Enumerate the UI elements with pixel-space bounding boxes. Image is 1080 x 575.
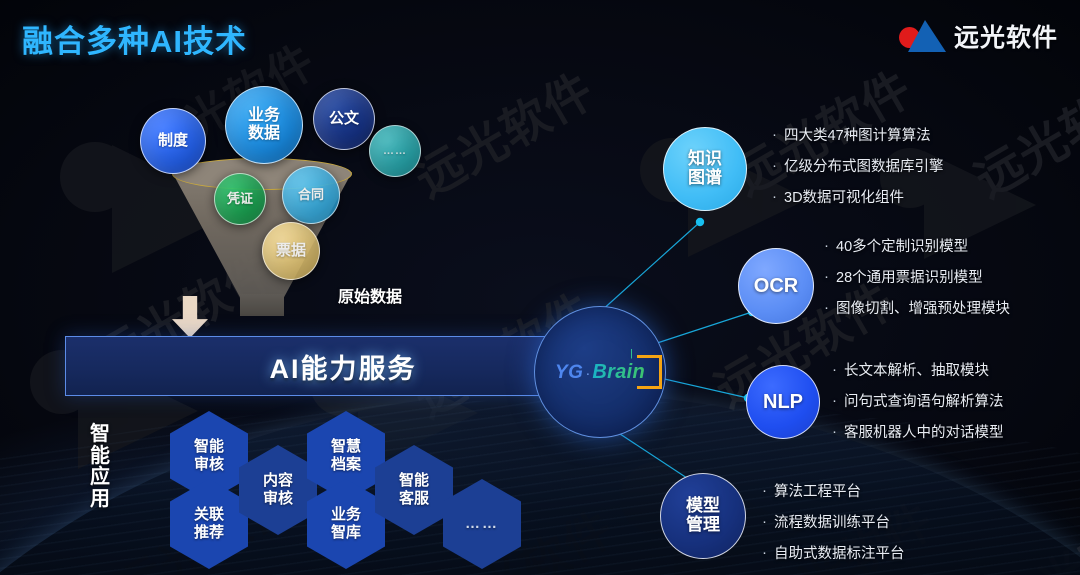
bullet-text: 亿级分布式图数据库引擎	[784, 158, 944, 176]
bullet-dot-icon: ·	[772, 189, 784, 206]
bullet-item: ·亿级分布式图数据库引擎	[772, 158, 944, 176]
app-hex-related-recommend[interactable]: 关联 推荐	[170, 479, 248, 569]
bubble-label: 票据	[276, 243, 306, 260]
bullet-item: ·问句式查询语句解析算法	[832, 393, 1004, 411]
hex-label-line1: 关联	[194, 506, 224, 524]
source-bubble-gongwen[interactable]: 公文	[313, 88, 375, 150]
hex-label-line2: 智库	[331, 524, 361, 542]
bullet-dot-icon: ·	[772, 158, 784, 175]
hex-label-line2: 客服	[399, 490, 429, 508]
bullet-text: 问句式查询语句解析算法	[844, 393, 1004, 411]
hex-label-line1: 智慧	[331, 438, 361, 456]
capability-label-line2: 管理	[686, 516, 720, 535]
hex-label-line1: 内容	[263, 472, 293, 490]
slide-canvas: 远光软件 远光软件 远光软件 远光软件 远光软件 远光软件 远光软件 远光软件 …	[0, 0, 1080, 575]
hex-label-line2: 档案	[331, 456, 361, 474]
bubble-label: 公文	[329, 111, 359, 128]
hex-label-line1: 业务	[331, 506, 361, 524]
bullet-dot-icon: ·	[832, 362, 844, 379]
capability-ocr[interactable]: OCR	[738, 248, 814, 324]
brand-separator: ·	[585, 365, 590, 382]
bullet-text: 长文本解析、抽取模块	[844, 362, 989, 380]
capability-label-line1: OCR	[754, 275, 798, 297]
ai-service-label: AI能力服务	[270, 347, 417, 386]
bullet-text: 算法工程平台	[774, 483, 861, 501]
source-bubble-zhidu[interactable]: 制度	[140, 108, 206, 174]
watermark: 远光软件	[960, 52, 1080, 211]
bullets-nlp: ·长文本解析、抽取模块 ·问句式查询语句解析算法 ·客服机器人中的对话模型	[832, 362, 1004, 455]
raw-data-label: 原始数据	[338, 283, 402, 307]
brand-prefix: YG	[555, 362, 583, 384]
company-logo: 远光软件	[899, 18, 1058, 54]
bullet-text: 四大类47种图计算算法	[784, 127, 931, 145]
yg-brain-logo: YG · Brain	[555, 361, 645, 384]
bullet-dot-icon: ·	[832, 424, 844, 441]
capability-label-line2: 图谱	[688, 169, 722, 188]
bullets-ocr: ·40多个定制识别模型 ·28个通用票据识别模型 ·图像切割、增强预处理模块	[824, 238, 1010, 331]
bullet-text: 流程数据训练平台	[774, 514, 890, 532]
app-hex-smart-service[interactable]: 智能 客服	[375, 445, 453, 535]
watermark: 远光软件	[980, 482, 1080, 575]
bubble-label-line1: 业务	[248, 107, 280, 125]
bullet-item: ·自助式数据标注平台	[762, 545, 905, 563]
bubble-label: 制度	[158, 133, 188, 150]
capability-knowledge-graph[interactable]: 知识 图谱	[663, 127, 747, 211]
bullet-item: ·流程数据训练平台	[762, 514, 905, 532]
bubble-label: 合同	[298, 188, 324, 203]
app-hex-content-audit[interactable]: 内容 审核	[239, 445, 317, 535]
funnel-stem	[240, 294, 284, 316]
hex-label-line2: 审核	[194, 456, 224, 474]
bullet-text: 28个通用票据识别模型	[836, 269, 983, 287]
bubble-label-line2: 数据	[248, 125, 280, 143]
bullet-text: 图像切割、增强预处理模块	[836, 300, 1010, 318]
bubble-label: ……	[383, 145, 407, 157]
bullet-text: 客服机器人中的对话模型	[844, 424, 1004, 442]
bullet-item: ·28个通用票据识别模型	[824, 269, 1010, 287]
bullet-item: ·算法工程平台	[762, 483, 905, 501]
capability-label-line1: NLP	[763, 391, 803, 413]
logo-mark-icon	[899, 19, 947, 53]
hex-label-line1: ……	[465, 515, 499, 533]
bullet-dot-icon: ·	[824, 238, 836, 255]
bullet-dot-icon: ·	[824, 269, 836, 286]
bullet-item: ·40多个定制识别模型	[824, 238, 1010, 256]
source-bubble-more[interactable]: ……	[369, 125, 421, 177]
bullet-dot-icon: ·	[762, 545, 774, 562]
bullet-item: ·长文本解析、抽取模块	[832, 362, 1004, 380]
bullet-dot-icon: ·	[832, 393, 844, 410]
bullet-item: ·图像切割、增强预处理模块	[824, 300, 1010, 318]
bullet-item: ·客服机器人中的对话模型	[832, 424, 1004, 442]
hex-label-line1: 智能	[399, 472, 429, 490]
applications-label-char: 应	[86, 467, 114, 489]
capability-label-line1: 知识	[688, 150, 722, 169]
source-bubble-hetong[interactable]: 合同	[282, 166, 340, 224]
page-title: 融合多种AI技术	[22, 16, 247, 61]
bracket-icon	[637, 355, 662, 389]
bullet-dot-icon: ·	[762, 483, 774, 500]
hex-label-line1: 智能	[194, 438, 224, 456]
bullet-dot-icon: ·	[772, 127, 784, 144]
app-hex-more[interactable]: ……	[443, 479, 521, 569]
applications-label: 智 能 应 用	[86, 424, 114, 510]
bullet-item: ·四大类47种图计算算法	[772, 127, 944, 145]
bullet-text: 40多个定制识别模型	[836, 238, 968, 256]
source-bubble-yewushuju[interactable]: 业务 数据	[225, 86, 303, 164]
source-bubble-pingzheng[interactable]: 凭证	[214, 173, 266, 225]
applications-label-char: 能	[86, 446, 114, 468]
bubble-label: 凭证	[227, 192, 253, 207]
applications-label-char: 智	[86, 424, 114, 446]
applications-label-char: 用	[86, 489, 114, 511]
bullet-text: 3D数据可视化组件	[784, 189, 904, 207]
bullet-dot-icon: ·	[762, 514, 774, 531]
logo-text: 远光软件	[954, 18, 1058, 54]
capability-label-line1: 模型	[686, 497, 720, 516]
capability-model-management[interactable]: 模型 管理	[660, 473, 746, 559]
source-bubble-piaoju[interactable]: 票据	[262, 222, 320, 280]
bullets-model-management: ·算法工程平台 ·流程数据训练平台 ·自助式数据标注平台	[762, 483, 905, 575]
bullet-text: 自助式数据标注平台	[774, 545, 905, 563]
hex-label-line2: 推荐	[194, 524, 224, 542]
bullets-knowledge-graph: ·四大类47种图计算算法 ·亿级分布式图数据库引擎 ·3D数据可视化组件	[772, 127, 944, 220]
watermark: 远光软件	[400, 52, 605, 211]
capability-nlp[interactable]: NLP	[746, 365, 820, 439]
bullet-item: ·3D数据可视化组件	[772, 189, 944, 207]
app-hex-business-knowledge[interactable]: 业务 智库	[307, 479, 385, 569]
hex-label-line2: 审核	[263, 490, 293, 508]
yg-brain-hub[interactable]: YG · Brain	[534, 306, 666, 438]
bullet-dot-icon: ·	[824, 300, 836, 317]
